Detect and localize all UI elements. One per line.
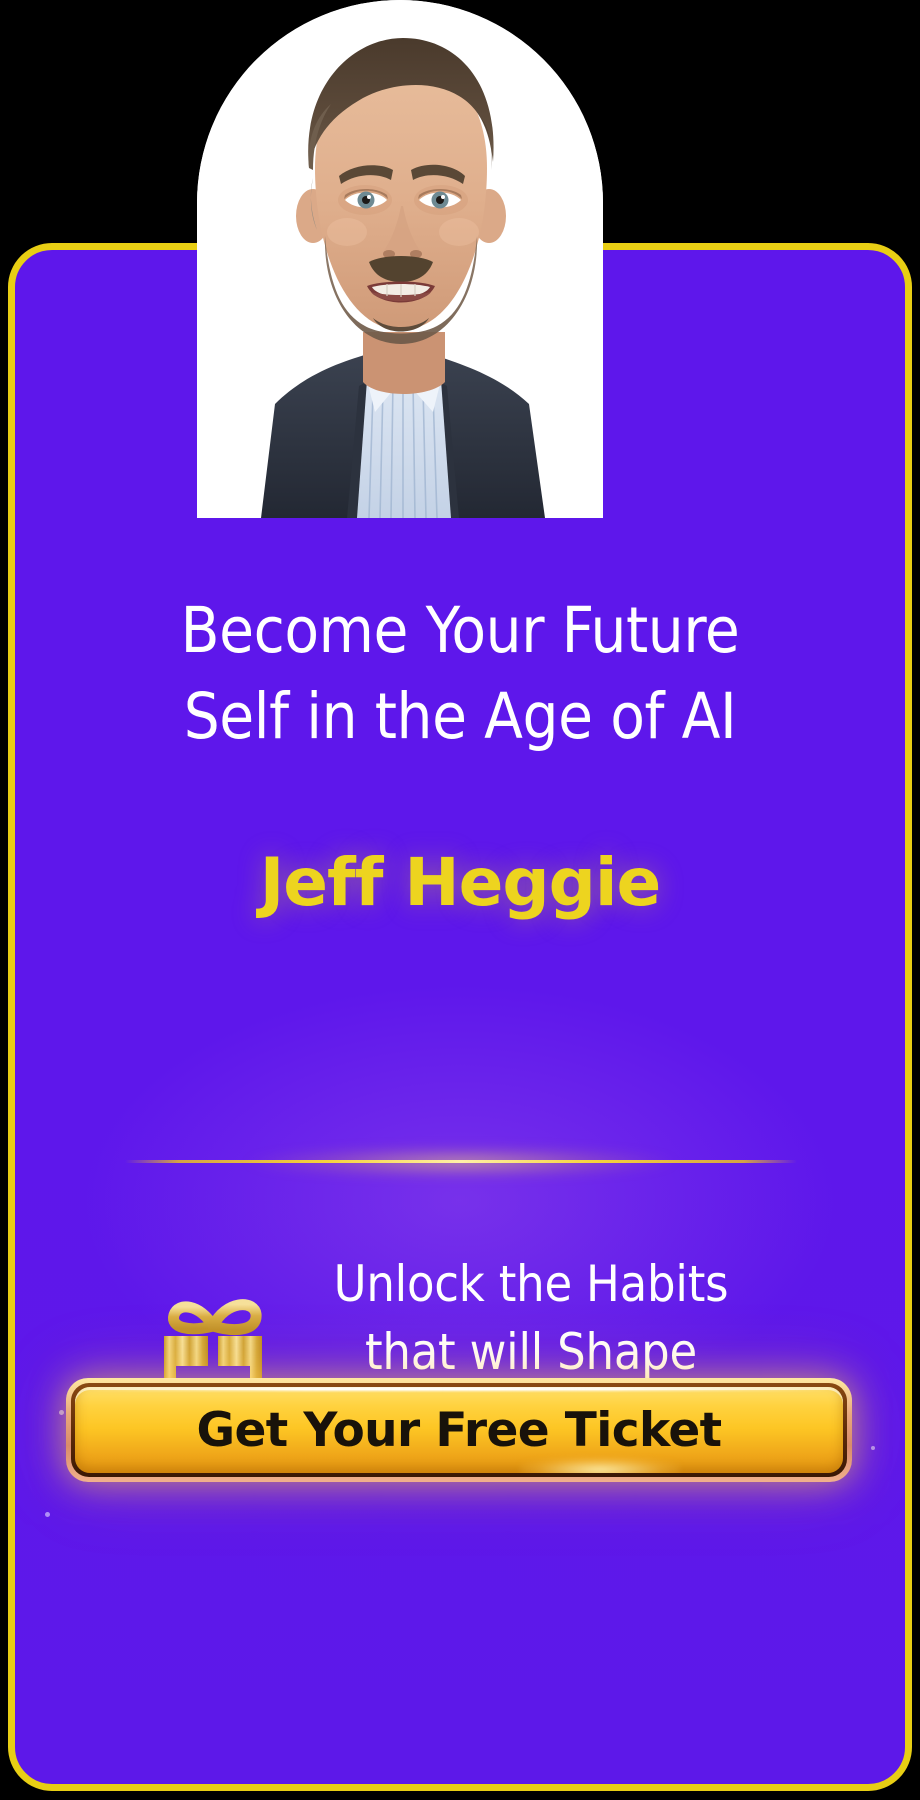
headline-line-1: Become Your Future [15, 588, 905, 674]
promo-stage: Become Your Future Self in the Age of AI… [0, 0, 920, 1800]
speaker-avatar [197, 0, 603, 518]
offer-line-2: that will Shape [296, 1318, 766, 1386]
gold-divider [125, 1159, 797, 1164]
avatar-photo [197, 0, 603, 518]
avatar-photo-clip [197, 0, 603, 518]
cta-button-frame: Get Your Free Ticket [66, 1378, 852, 1482]
sparkle-dot [45, 1512, 50, 1517]
cta-label: Get Your Free Ticket [196, 1403, 721, 1458]
headline-line-2: Self in the Age of AI [15, 674, 905, 760]
get-free-ticket-button[interactable]: Get Your Free Ticket [75, 1387, 843, 1473]
divider-line [125, 1160, 797, 1163]
cta-button-bevel: Get Your Free Ticket [71, 1383, 847, 1477]
speaker-name: Jeff Heggie [15, 844, 905, 922]
headline: Become Your Future Self in the Age of AI [15, 588, 905, 760]
offer-line-1: Unlock the Habits [296, 1250, 766, 1318]
